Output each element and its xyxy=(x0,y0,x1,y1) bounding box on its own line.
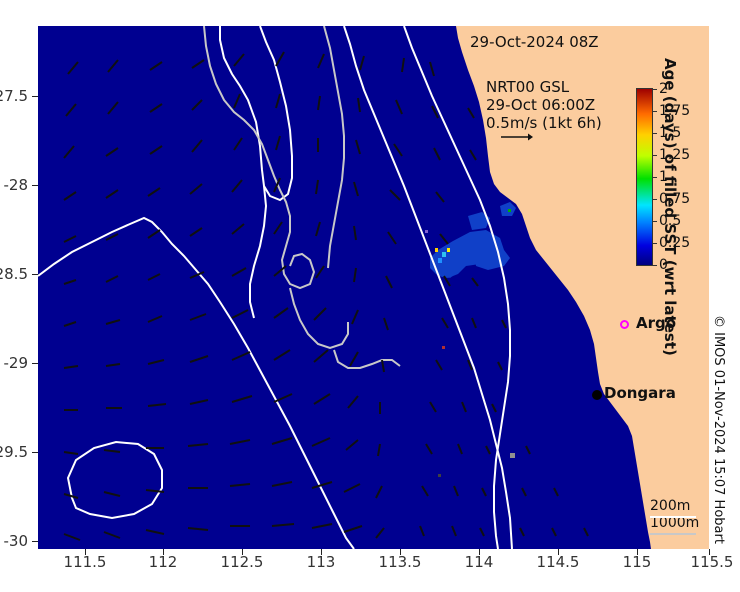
y-tick-label: -29.5 xyxy=(0,443,28,461)
credit-text: © IMOS 01-Nov-2024 15:07 Hobart xyxy=(711,315,726,544)
right-arrow-icon xyxy=(500,131,534,143)
y-tick xyxy=(32,363,38,364)
dongara-marker-icon[interactable] xyxy=(592,390,602,400)
current-vector-field xyxy=(38,26,709,549)
colorbar-title: Age (days) of filled SST (wrt latest) xyxy=(661,58,679,288)
x-tick-label: 115 xyxy=(623,553,652,571)
product-time: 29-Oct 06:00Z xyxy=(486,96,602,114)
colorbar-tick xyxy=(653,133,657,134)
depth-line-200m xyxy=(650,516,696,518)
colorbar-gradient xyxy=(636,88,653,266)
depth-scale-legend: 200m 1000m xyxy=(650,498,699,532)
timestamp-label: 29-Oct-2024 08Z xyxy=(470,33,599,51)
y-tick xyxy=(32,274,38,275)
x-tick-label: 112.5 xyxy=(221,553,264,571)
map-plot-area: 29-Oct-2024 08Z NRT00 GSL 29-Oct 06:00Z … xyxy=(38,26,709,549)
colorbar-tick xyxy=(653,177,657,178)
colorbar-tick xyxy=(653,243,657,244)
product-vector-scale: 0.5m/s (1kt 6h) xyxy=(486,114,602,132)
colorbar-tick xyxy=(653,111,657,112)
x-tick-label: 113 xyxy=(307,553,336,571)
depth-line-1000m xyxy=(650,533,696,535)
y-tick-label: -28.5 xyxy=(0,265,28,283)
y-tick xyxy=(32,541,38,542)
product-info-block: NRT00 GSL 29-Oct 06:00Z 0.5m/s (1kt 6h) xyxy=(486,78,602,132)
x-tick-label: 114.5 xyxy=(537,553,580,571)
colorbar-tick xyxy=(653,89,657,90)
y-tick xyxy=(32,96,38,97)
colorbar-tick xyxy=(653,199,657,200)
x-tick-label: 114 xyxy=(465,553,494,571)
argo-marker-icon[interactable] xyxy=(620,320,629,329)
product-name: NRT00 GSL xyxy=(486,78,602,96)
colorbar xyxy=(636,88,653,266)
y-tick-label: -30 xyxy=(0,532,28,550)
colorbar-tick xyxy=(653,265,657,266)
x-tick-label: 111.5 xyxy=(64,553,107,571)
x-tick-label: 113.5 xyxy=(379,553,422,571)
dongara-label: Dongara xyxy=(604,384,676,402)
depth-label-200m: 200m xyxy=(650,498,699,515)
y-tick-label: -27.5 xyxy=(0,87,28,105)
y-tick xyxy=(32,185,38,186)
y-tick-label: -29 xyxy=(0,354,28,372)
colorbar-tick xyxy=(653,221,657,222)
x-tick-label: 115.5 xyxy=(691,553,734,571)
y-tick-label: -28 xyxy=(0,176,28,194)
x-tick-label: 112 xyxy=(149,553,178,571)
colorbar-tick xyxy=(653,155,657,156)
y-tick xyxy=(32,452,38,453)
